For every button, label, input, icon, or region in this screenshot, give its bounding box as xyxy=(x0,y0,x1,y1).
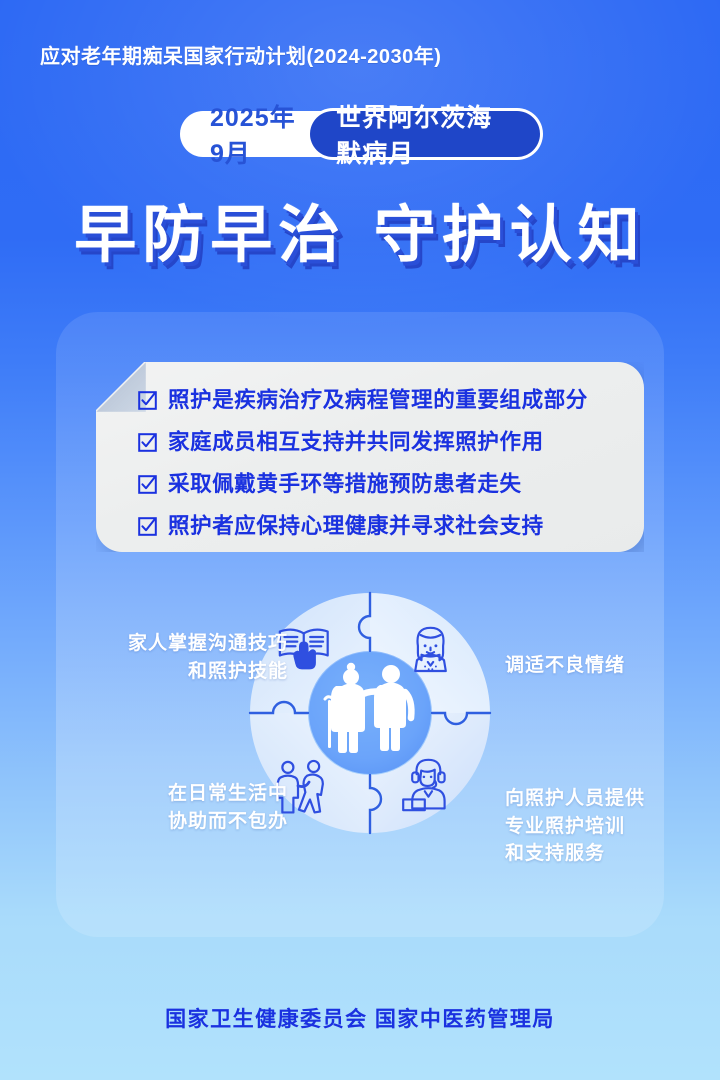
checkbox-checked-icon xyxy=(138,517,157,536)
checklist-item-label: 照护者应保持心理健康并寻求社会支持 xyxy=(168,516,544,538)
checklist-item-label: 家庭成员相互支持并共同发挥照护作用 xyxy=(168,432,544,454)
list-item: 家庭成员相互支持并共同发挥照护作用 xyxy=(138,424,638,461)
list-item: 照护者应保持心理健康并寻求社会支持 xyxy=(138,508,638,545)
checklist-item-label: 照护是疾病治疗及病程管理的重要组成部分 xyxy=(168,390,588,412)
diagram-label-line: 和支持服务 xyxy=(505,840,645,868)
diagram-label-line: 在日常生活中 xyxy=(78,780,288,808)
checklist: 照护是疾病治疗及病程管理的重要组成部分 家庭成员相互支持并共同发挥照护作用 采取… xyxy=(138,382,638,550)
diagram-label-bottom-right: 向照护人员提供 专业照护培训 和支持服务 xyxy=(505,785,645,868)
theme-badge: 2025年9月 世界阿尔茨海默病月 xyxy=(180,111,540,157)
checkbox-checked-icon xyxy=(138,391,157,410)
diagram-label-line: 调适不良情绪 xyxy=(505,652,625,680)
diagram-label-line: 向照护人员提供 xyxy=(505,785,645,813)
diagram-label-top-right: 调适不良情绪 xyxy=(505,652,625,680)
diagram-label-line: 协助而不包办 xyxy=(78,808,288,836)
diagram-label-top-left: 家人掌握沟通技巧 和照护技能 xyxy=(78,630,288,685)
list-item: 照护是疾病治疗及病程管理的重要组成部分 xyxy=(138,382,638,419)
list-item: 采取佩戴黄手环等措施预防患者走失 xyxy=(138,466,638,503)
footer-authorities: 国家卫生健康委员会 国家中医药管理局 xyxy=(0,1003,720,1033)
badge-theme-label: 世界阿尔茨海默病月 xyxy=(310,111,540,157)
checkbox-checked-icon xyxy=(138,475,157,494)
poster-root: 应对老年期痴呆国家行动计划(2024-2030年) 2025年9月 世界阿尔茨海… xyxy=(0,0,720,1080)
checkbox-checked-icon xyxy=(138,433,157,452)
diagram-label-line: 专业照护培训 xyxy=(505,813,645,841)
program-kicker: 应对老年期痴呆国家行动计划(2024-2030年) xyxy=(40,40,441,69)
diagram-label-line: 家人掌握沟通技巧 xyxy=(78,630,288,658)
diagram-label-line: 和照护技能 xyxy=(78,658,288,686)
page-title: 早防早治 守护认知 xyxy=(0,184,720,274)
checklist-item-label: 采取佩戴黄手环等措施预防患者走失 xyxy=(168,474,522,496)
diagram-label-bottom-left: 在日常生活中 协助而不包办 xyxy=(78,780,288,835)
